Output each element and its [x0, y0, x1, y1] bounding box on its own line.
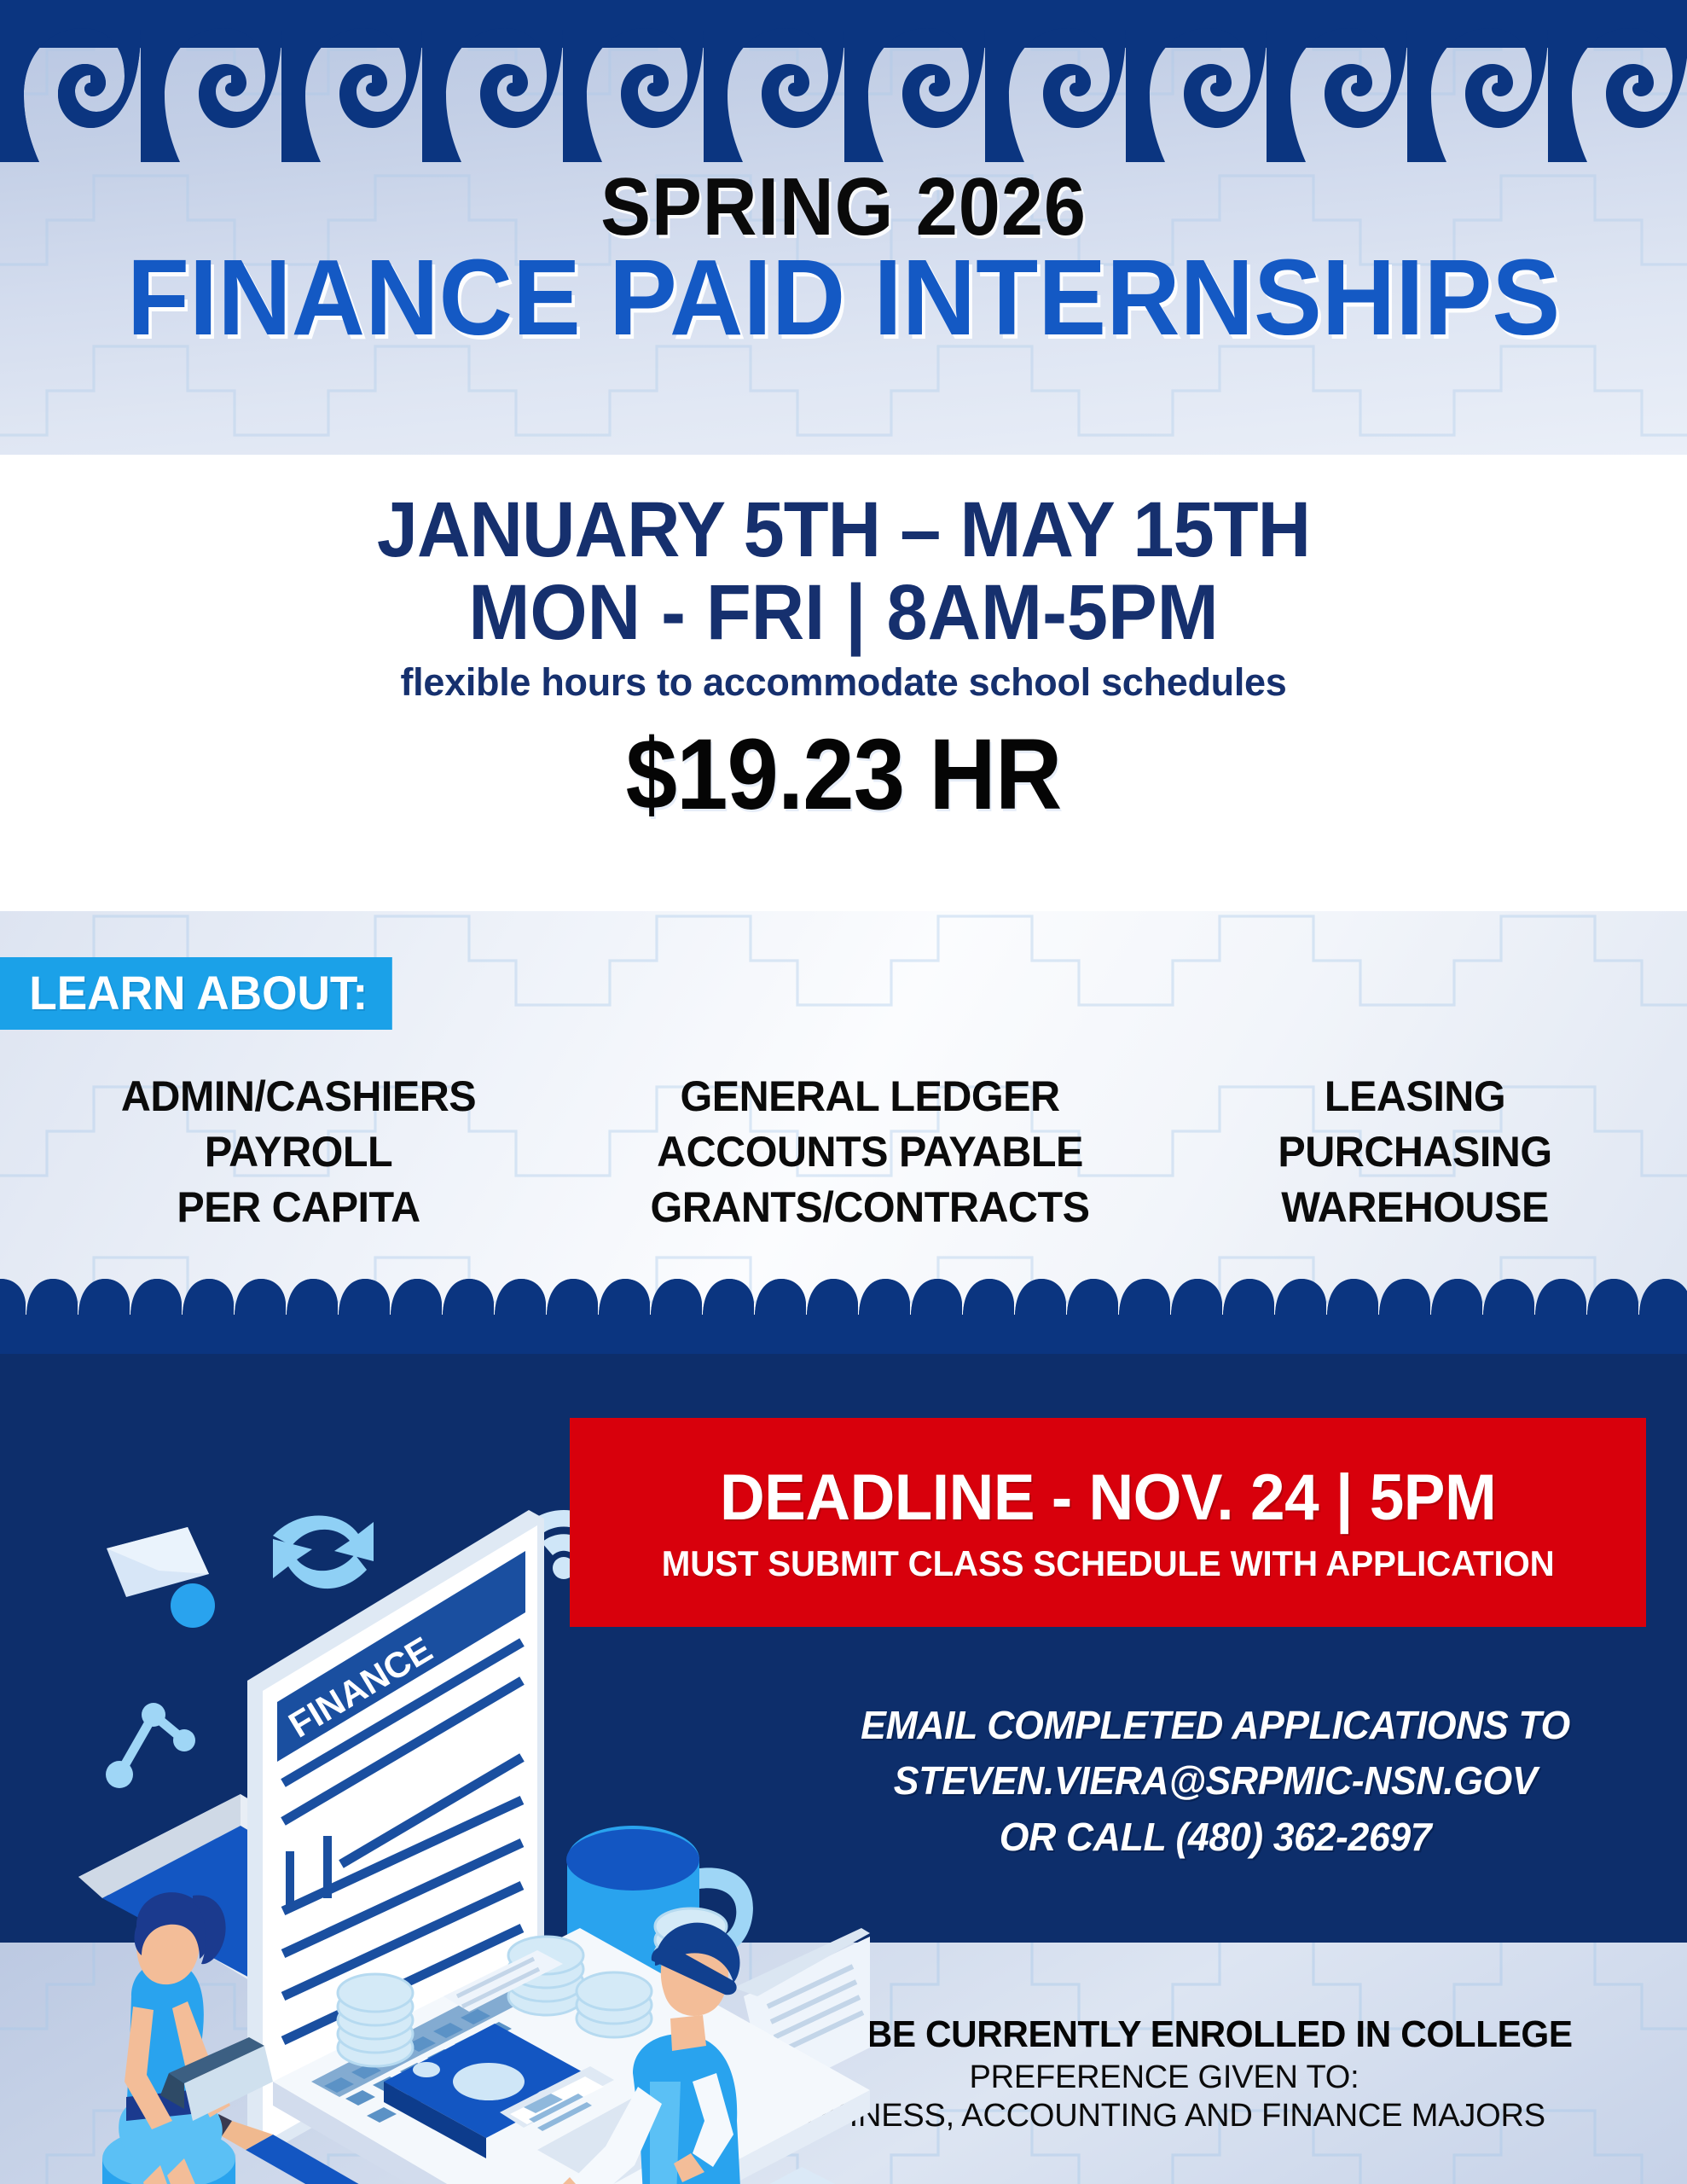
internship-days-hours: MON - FRI | 8AM-5PM [50, 572, 1636, 654]
learn-item: GRANTS/CONTRACTS [606, 1180, 1135, 1235]
contact-email[interactable]: STEVEN.VIERA@SRPMIC-NSN.GOV [781, 1753, 1650, 1809]
learn-column-1: ADMIN/CASHIERS PAYROLL PER CAPITA [0, 1069, 597, 1235]
internship-dates: JANUARY 5TH – MAY 15TH [50, 455, 1636, 572]
schedule-section: JANUARY 5TH – MAY 15TH MON - FRI | 8AM-5… [0, 455, 1687, 913]
contact-block: EMAIL COMPLETED APPLICATIONS TO STEVEN.V… [768, 1698, 1663, 1865]
learn-item: PAYROLL [9, 1124, 588, 1180]
envelope-icon [107, 1527, 215, 1628]
spiral-wave-top [0, 0, 1687, 162]
contact-phone[interactable]: OR CALL (480) 362-2697 [781, 1809, 1650, 1865]
header-banner: SPRING 2026 FINANCE PAID INTERNSHIPS [0, 0, 1687, 456]
learn-column-3: LEASING PURCHASING WAREHOUSE [1143, 1069, 1687, 1235]
contact-instruction: EMAIL COMPLETED APPLICATIONS TO [781, 1698, 1650, 1753]
flexible-hours-note: flexible hours to accommodate school sch… [0, 660, 1687, 705]
learn-item: PER CAPITA [9, 1180, 588, 1235]
learn-item: LEASING [1151, 1069, 1679, 1124]
learn-column-2: GENERAL LEDGER ACCOUNTS PAYABLE GRANTS/C… [597, 1069, 1143, 1235]
season-title: SPRING 2026 [67, 166, 1620, 248]
sync-arrow-icon [273, 1516, 374, 1589]
deadline-box: DEADLINE - NOV. 24 | 5PM MUST SUBMIT CLA… [570, 1418, 1646, 1627]
pay-rate: $19.23 HR [67, 717, 1620, 833]
internship-flyer: SPRING 2026 FINANCE PAID INTERNSHIPS JAN… [0, 0, 1687, 2184]
learn-item: WAREHOUSE [1151, 1180, 1679, 1235]
learn-about-section: LEARN ABOUT: ADMIN/CASHIERS PAYROLL PER … [0, 911, 1687, 1307]
learn-item: PURCHASING [1151, 1124, 1679, 1180]
title-block: SPRING 2026 FINANCE PAID INTERNSHIPS [0, 166, 1687, 353]
deadline-headline: DEADLINE - NOV. 24 | 5PM [720, 1461, 1496, 1535]
learn-item: ACCOUNTS PAYABLE [606, 1124, 1135, 1180]
learn-about-badge: LEARN ABOUT: [0, 957, 392, 1030]
learn-about-columns: ADMIN/CASHIERS PAYROLL PER CAPITA GENERA… [0, 1069, 1687, 1235]
learn-item: GENERAL LEDGER [606, 1069, 1135, 1124]
spiral-wave-divider [0, 1277, 1687, 1354]
learn-item: ADMIN/CASHIERS [9, 1069, 588, 1124]
deadline-subline: MUST SUBMIT CLASS SCHEDULE WITH APPLICAT… [662, 1543, 1555, 1584]
page-title: FINANCE PAID INTERNSHIPS [42, 243, 1644, 353]
chart-nodes-icon [106, 1703, 195, 1788]
